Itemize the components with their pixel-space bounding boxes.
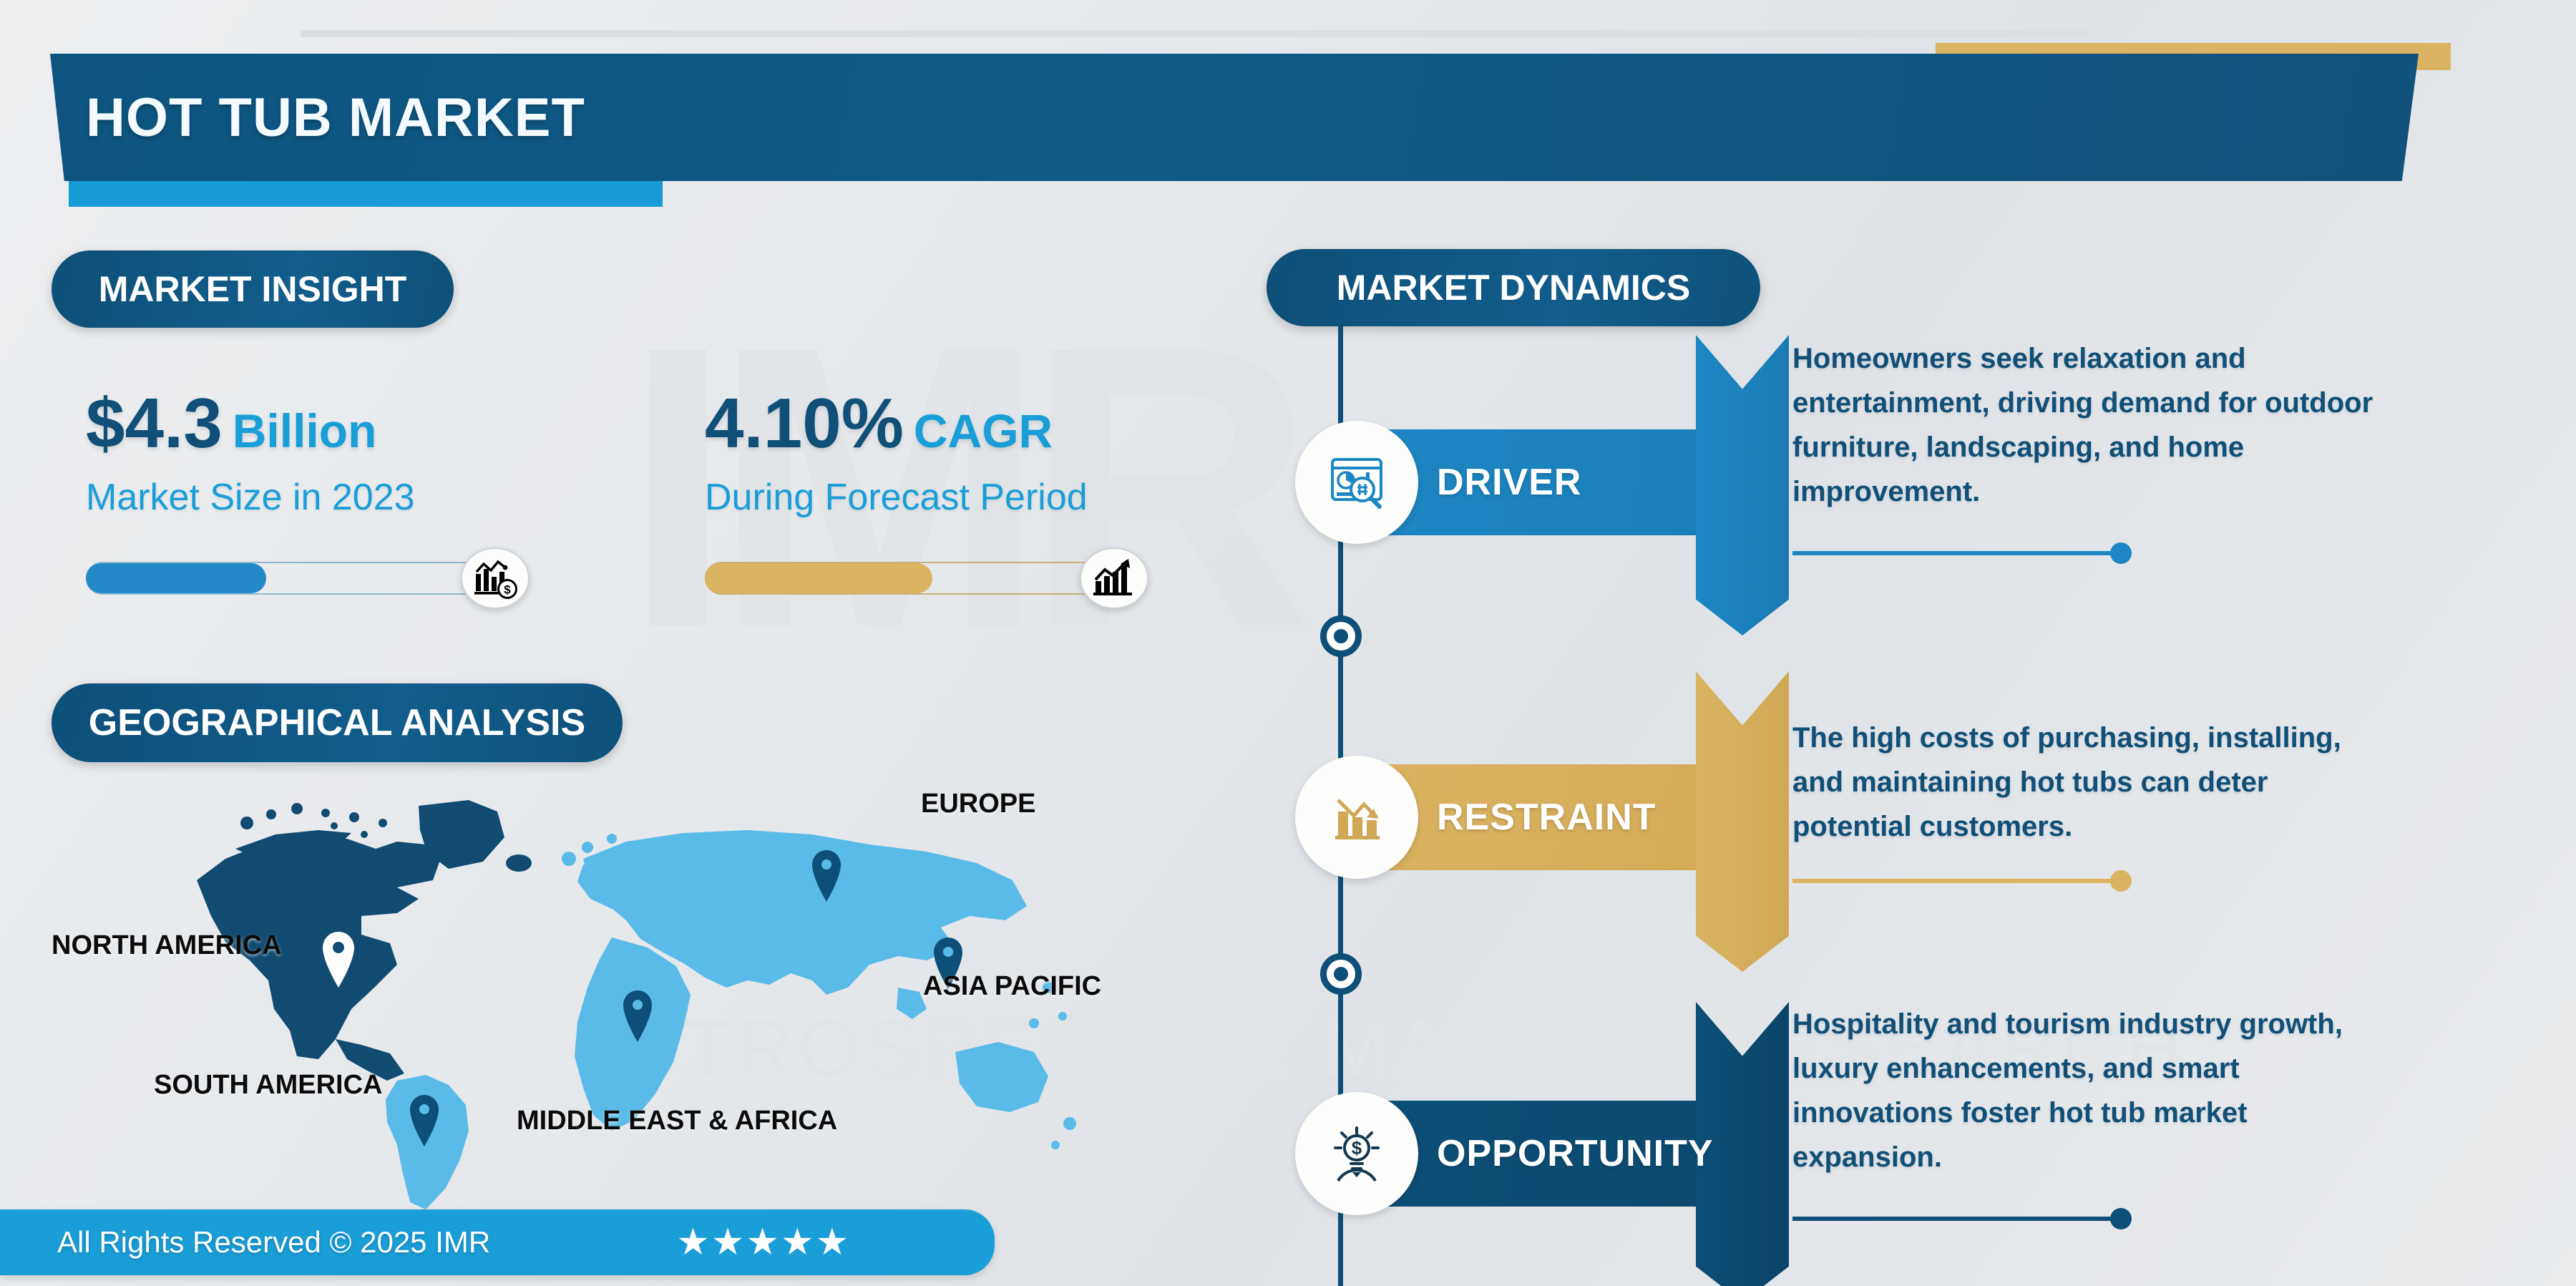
opportunity-underline-dot <box>2110 1208 2132 1229</box>
section-title-geographical-analysis: GEOGRAPHICAL ANALYSIS <box>52 683 623 762</box>
market-size-value: $4.3 <box>86 384 223 462</box>
dashboard-analytics-search-icon <box>1295 421 1418 544</box>
market-size-bar-fill <box>86 563 266 593</box>
header-blue-accent <box>69 181 663 207</box>
map-label-south-america: SOUTH AMERICA <box>154 1070 382 1101</box>
header-banner: HOT TUB MARKET <box>50 54 2419 181</box>
driver-description: Homeowners seek relaxation and entertain… <box>1792 336 2386 514</box>
bar-chart-dollar-icon: $ <box>461 547 530 609</box>
cagr-value: 4.10% <box>705 384 904 462</box>
opportunity-label: OPPORTUNITY <box>1437 1132 1714 1175</box>
cagr-caption: During Forecast Period <box>705 476 1191 519</box>
svg-text:$: $ <box>504 583 511 596</box>
market-size-value-row: $4.3Billion <box>86 386 544 460</box>
growth-arrow-chart-icon-svg <box>1091 557 1137 600</box>
cagr-value-row: 4.10%CAGR <box>705 386 1191 460</box>
stat-market-size: $4.3Billion Market Size in 2023 $ <box>86 386 544 609</box>
driver-bar: DRIVER <box>1338 429 1696 535</box>
driver-ribbon <box>1696 335 1789 635</box>
cagr-bar-fill <box>705 563 932 593</box>
map-label-north-america: NORTH AMERICA <box>52 930 282 961</box>
lightbulb-dollar-icon-svg: $ <box>1322 1119 1391 1188</box>
timeline-node-2 <box>1320 953 1362 995</box>
page-title: HOT TUB MARKET <box>86 87 585 149</box>
timeline-node-1 <box>1320 615 1362 657</box>
bar-chart-dollar-icon-svg: $ <box>472 556 518 600</box>
declining-bar-chart-icon-svg <box>1322 783 1391 852</box>
cagr-unit: CAGR <box>914 404 1053 457</box>
cagr-progress <box>705 547 1191 609</box>
map-label-asia-pacific: ASIA PACIFIC <box>923 971 1101 1002</box>
rating-stars: ★★★★★ <box>676 1221 850 1264</box>
driver-underline <box>1792 551 2122 555</box>
restraint-description: The high costs of purchasing, installing… <box>1792 716 2394 849</box>
dashboard-analytics-search-icon-svg <box>1322 448 1391 517</box>
restraint-underline-dot <box>2110 870 2132 892</box>
growth-arrow-chart-icon <box>1080 547 1148 609</box>
restraint-underline <box>1792 879 2122 883</box>
driver-underline-dot <box>2110 542 2132 564</box>
restraint-bar: RESTRAINT <box>1338 764 1696 870</box>
stat-cagr: 4.10%CAGR During Forecast Period <box>705 386 1191 609</box>
restraint-label: RESTRAINT <box>1437 796 1657 839</box>
section-title-market-dynamics: MARKET DYNAMICS <box>1267 249 1760 326</box>
opportunity-bar: $ OPPORTUNITY <box>1338 1101 1696 1207</box>
footer-bar: All Rights Reserved © 2025 IMR ★★★★★ <box>0 1209 995 1275</box>
market-size-caption: Market Size in 2023 <box>86 476 544 519</box>
svg-text:$: $ <box>1352 1137 1362 1159</box>
infographic-canvas: IMR INTROSPECTIVE MARKET RESEARCH HOT TU… <box>0 0 2576 1286</box>
map-label-europe: EUROPE <box>921 789 1035 819</box>
declining-bar-chart-icon <box>1295 756 1418 879</box>
opportunity-description: Hospitality and tourism industry growth,… <box>1792 1002 2365 1179</box>
driver-label: DRIVER <box>1437 461 1581 504</box>
lightbulb-dollar-icon: $ <box>1295 1092 1418 1215</box>
section-title-market-insight: MARKET INSIGHT <box>52 250 454 328</box>
header-top-line <box>301 30 2089 37</box>
restraint-ribbon <box>1696 671 1789 972</box>
market-size-unit: Billion <box>233 404 377 457</box>
copyright-text: All Rights Reserved © 2025 IMR <box>57 1225 490 1260</box>
market-size-progress: $ <box>86 547 544 609</box>
opportunity-underline <box>1792 1217 2122 1221</box>
map-label-middle-east-africa: MIDDLE EAST & AFRICA <box>517 1106 837 1136</box>
map-region-south-america <box>386 1075 469 1209</box>
